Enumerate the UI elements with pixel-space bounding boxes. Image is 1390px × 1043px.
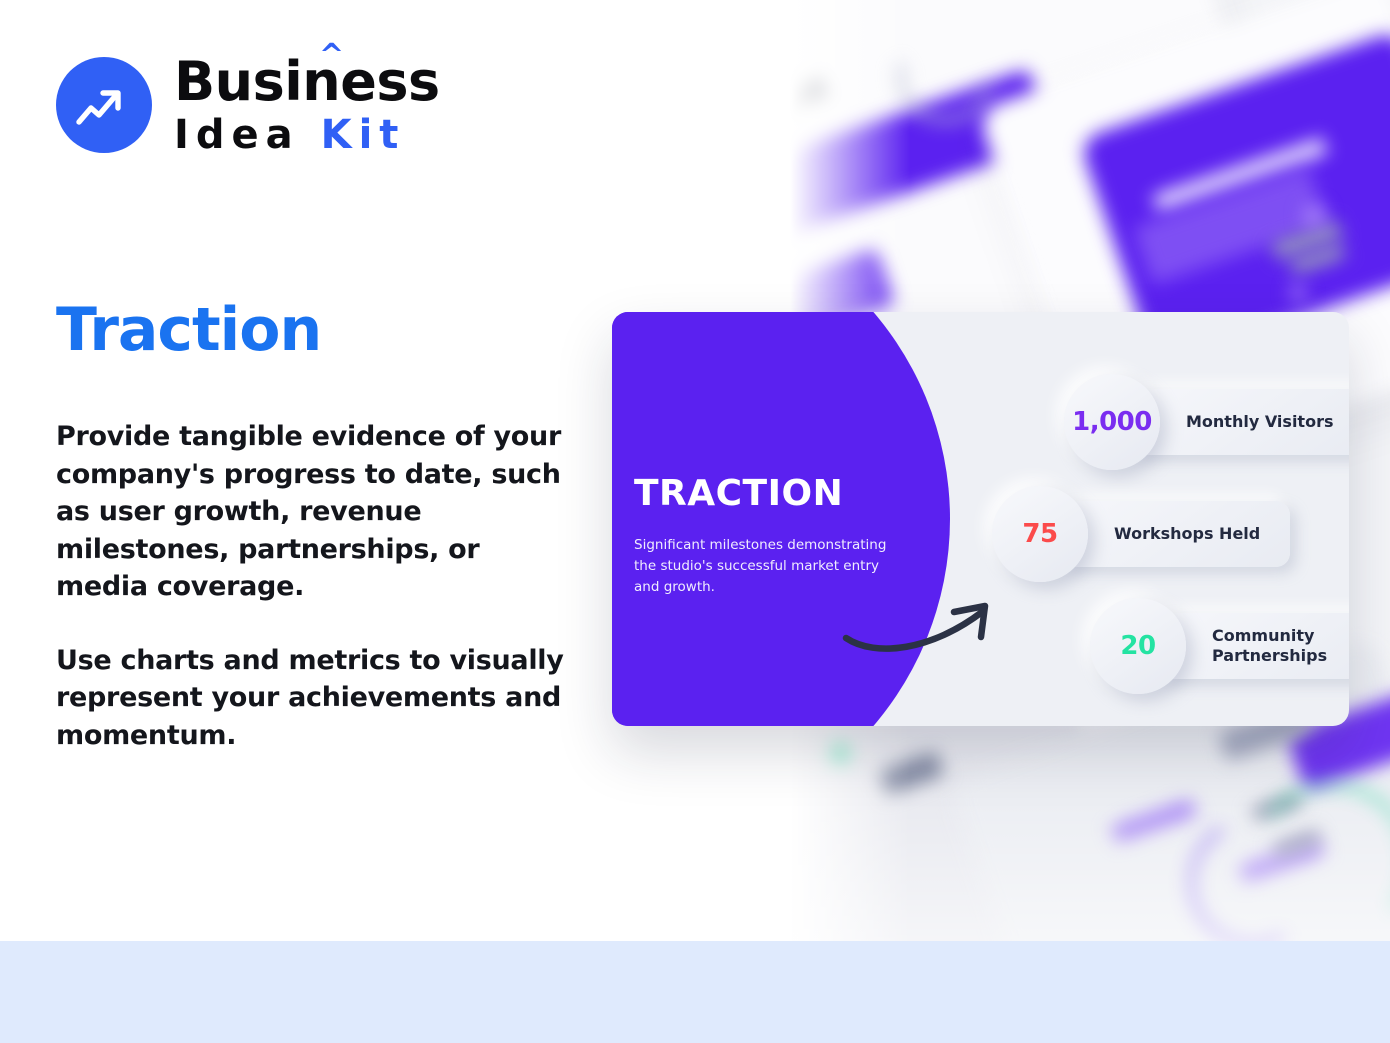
metric-row[interactable]: 20 Community Partnerships: [1090, 598, 1349, 694]
description-paragraph-1: Provide tangible evidence of your compan…: [56, 418, 566, 606]
growth-chart-circle-icon: [56, 57, 152, 153]
bg-dot-shape: [1303, 205, 1325, 227]
metric-value: 75: [1022, 519, 1057, 549]
brand-name-kit: Kit: [321, 112, 406, 158]
metric-label-pill: Workshops Held: [1058, 501, 1290, 567]
metric-label: Monthly Visitors: [1186, 412, 1333, 432]
metric-value-badge: 20: [1090, 598, 1186, 694]
metric-label: Community Partnerships: [1212, 626, 1349, 666]
slide-purple-shape: [612, 312, 950, 726]
brand-logo: Business ^ Idea Kit: [56, 55, 440, 155]
metric-value: 20: [1120, 631, 1155, 661]
slide-subtitle: Significant milestones demonstrating the…: [634, 535, 896, 598]
metric-label: Workshops Held: [1114, 524, 1260, 544]
slide-template-page: Business ^ Idea Kit Traction Provide tan…: [0, 0, 1390, 1043]
description-paragraph-2: Use charts and metrics to visually repre…: [56, 642, 566, 755]
brand-name-idea: Idea: [174, 112, 300, 158]
brand-accent-caret-icon: ^: [319, 41, 344, 71]
traction-slide-preview[interactable]: TRACTION Significant milestones demonstr…: [612, 312, 1349, 726]
background-bottom-fade: [790, 801, 1390, 941]
brand-name-line2: Idea Kit: [174, 115, 440, 155]
metric-row[interactable]: 75 Workshops Held: [992, 486, 1290, 582]
footer-accent-strip: [0, 941, 1390, 1043]
slide-title: TRACTION: [634, 473, 843, 514]
brand-wordmark: Business ^ Idea Kit: [174, 55, 440, 155]
page-title: Traction: [56, 295, 321, 365]
metric-row[interactable]: 1,000 Monthly Visitors: [1064, 374, 1349, 470]
metric-value: 1,000: [1072, 407, 1152, 437]
brand-name-line1-text: Business: [174, 50, 440, 113]
bg-dot-shape: [1290, 285, 1306, 301]
page-description: Provide tangible evidence of your compan…: [56, 418, 566, 754]
brand-name-line1: Business ^: [174, 55, 440, 109]
curved-arrow-up-right-icon: [842, 592, 1012, 662]
metric-value-badge: 75: [992, 486, 1088, 582]
metric-label-pill: Monthly Visitors: [1130, 389, 1349, 455]
metric-value-badge: 1,000: [1064, 374, 1160, 470]
